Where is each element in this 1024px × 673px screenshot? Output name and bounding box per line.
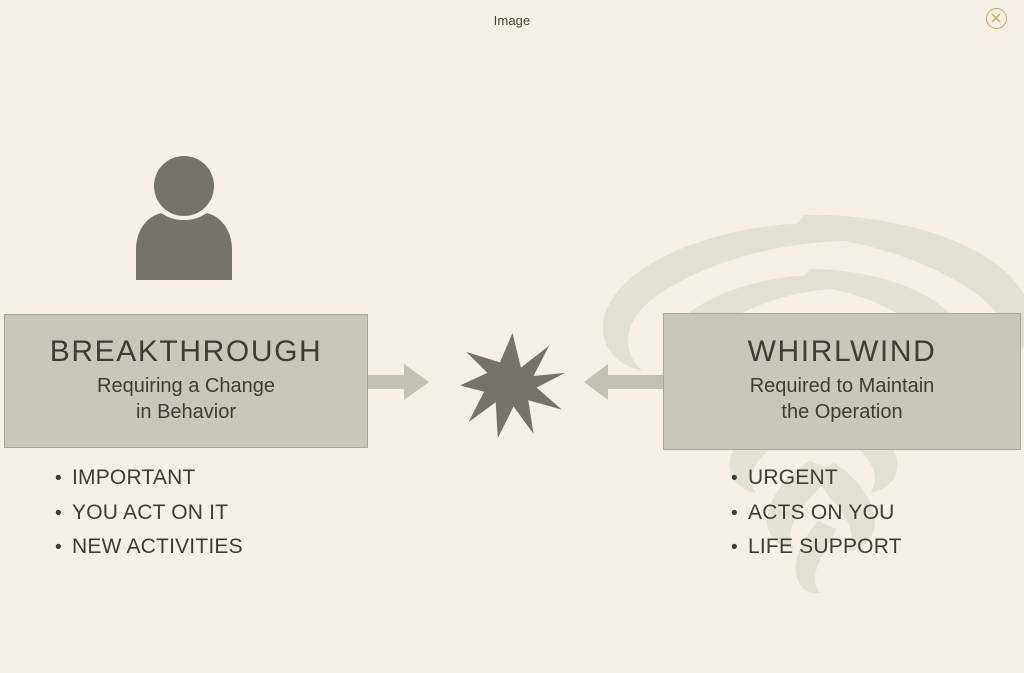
image-viewer-header: Image (0, 0, 1024, 44)
list-item: YOU ACT ON IT (55, 496, 243, 531)
breakthrough-subtitle-line2: in Behavior (97, 400, 275, 426)
whirlwind-subtitle-line1: Required to Maintain (750, 374, 935, 400)
breakthrough-subtitle: Requiring a Change in Behavior (97, 374, 275, 425)
whirlwind-subtitle: Required to Maintain the Operation (750, 374, 935, 425)
collision-starburst-icon (460, 333, 565, 438)
breakthrough-bullet-list: IMPORTANT YOU ACT ON IT NEW ACTIVITIES (55, 461, 243, 565)
whirlwind-subtitle-line2: the Operation (750, 400, 935, 426)
breakthrough-box[interactable]: BREAKTHROUGH Requiring a Change in Behav… (4, 314, 368, 448)
arrow-left-icon (583, 362, 665, 402)
page-title: Image (0, 13, 1024, 28)
close-icon (987, 9, 1005, 27)
list-item: NEW ACTIVITIES (55, 530, 243, 565)
whirlwind-title: WHIRLWIND (748, 337, 937, 367)
arrow-right-icon (366, 362, 430, 402)
breakthrough-title: BREAKTHROUGH (50, 337, 323, 367)
close-button[interactable] (986, 8, 1007, 29)
image-canvas[interactable]: BREAKTHROUGH Requiring a Change in Behav… (0, 0, 1024, 673)
list-item: ACTS ON YOU (731, 496, 902, 531)
list-item: URGENT (731, 461, 902, 496)
list-item: IMPORTANT (55, 461, 243, 496)
person-silhouette-icon (134, 155, 234, 280)
list-item: LIFE SUPPORT (731, 530, 902, 565)
breakthrough-subtitle-line1: Requiring a Change (97, 374, 275, 400)
whirlwind-bullet-list: URGENT ACTS ON YOU LIFE SUPPORT (731, 461, 902, 565)
whirlwind-box[interactable]: WHIRLWIND Required to Maintain the Opera… (663, 313, 1021, 450)
